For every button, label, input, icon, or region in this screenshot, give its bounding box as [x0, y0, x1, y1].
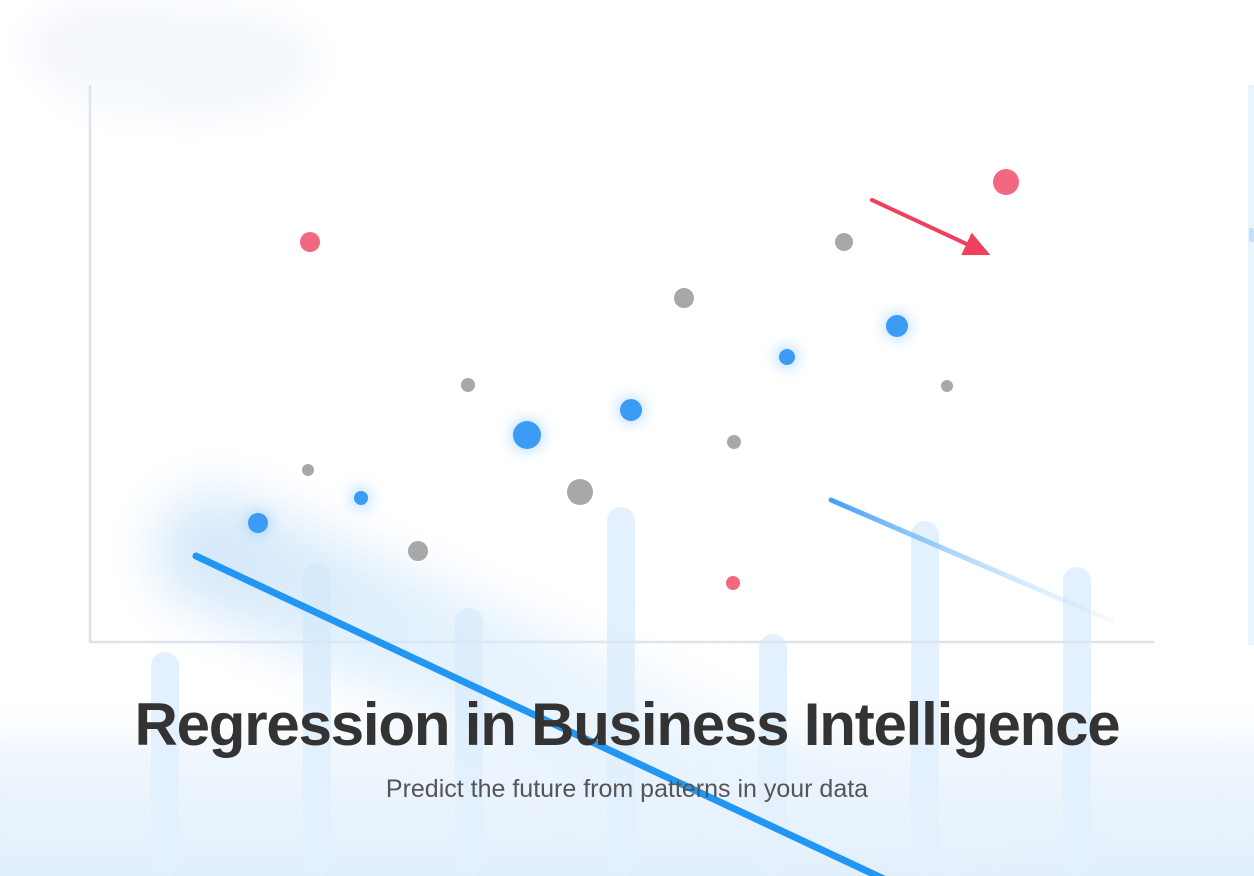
bar [151, 652, 179, 876]
decorative-blob [26, 0, 318, 122]
bar [1063, 567, 1091, 876]
regression-scatter-chart [0, 0, 1254, 876]
data-point [248, 513, 268, 533]
data-point [513, 421, 541, 449]
data-point [835, 233, 853, 251]
right-edge-accent [1248, 85, 1254, 645]
hero-banner: Regression in Business Intelligence Pred… [0, 0, 1254, 876]
data-point [727, 435, 741, 449]
data-point [300, 232, 320, 252]
data-point [302, 464, 314, 476]
data-point [779, 349, 795, 365]
secondary-regression-line [831, 500, 1112, 621]
data-point [674, 288, 694, 308]
data-point [620, 399, 642, 421]
data-point [993, 169, 1019, 195]
data-point [567, 479, 593, 505]
data-point [941, 380, 953, 392]
pink-data-points [300, 169, 1019, 590]
data-point [886, 315, 908, 337]
trend-arrow [872, 200, 986, 253]
data-point [354, 491, 368, 505]
data-point [726, 576, 740, 590]
data-point [408, 541, 428, 561]
data-point [461, 378, 475, 392]
